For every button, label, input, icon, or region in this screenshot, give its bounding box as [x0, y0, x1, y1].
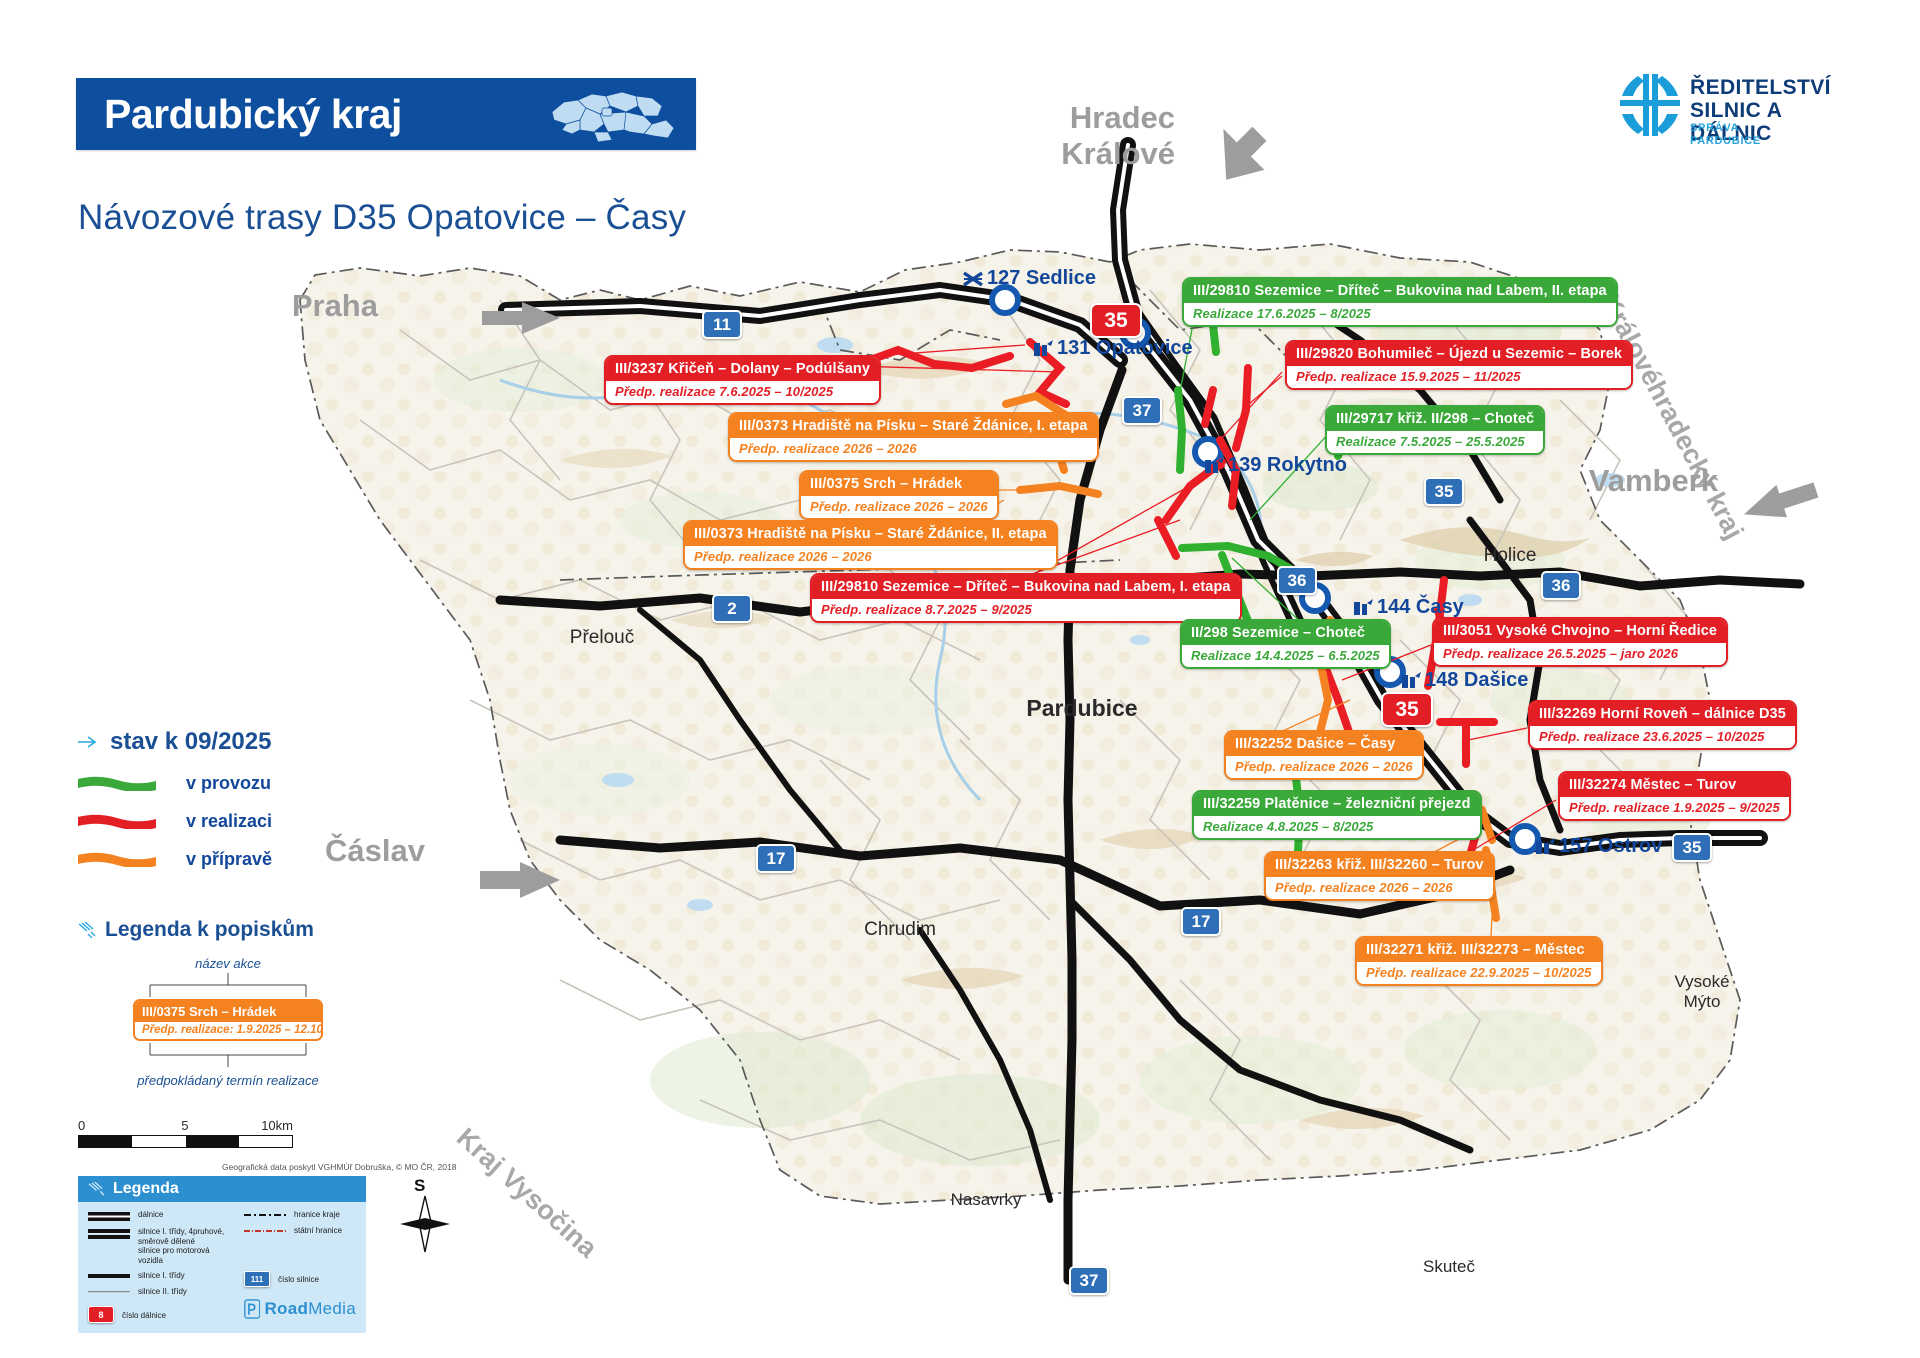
- legend-item-class2: silnice II. třídy: [88, 1287, 234, 1297]
- compass-north-label: S: [414, 1176, 425, 1196]
- callout-name: III/32274 Městec – Turov: [1560, 773, 1789, 797]
- callout-term: Předp. realizace 8.7.2025 – 9/2025: [812, 599, 1240, 621]
- callout-name: III/29820 Bohumileč – Újezd u Sezemic – …: [1287, 342, 1631, 366]
- city-label-holice: Holice: [1484, 545, 1537, 567]
- rsd-logo-sub: SPRÁVA PARDUBICE: [1690, 122, 1761, 148]
- status-legend: stav k 09/2025 v provozuv realizaciv pří…: [78, 728, 358, 870]
- city-label-pardubice: Pardubice: [1026, 695, 1137, 722]
- callout-term: Realizace 14.4.2025 – 6.5.2025: [1182, 645, 1389, 667]
- label-legend-bottom-note: předpokládaný termín realizace: [78, 1073, 378, 1088]
- motorway-shield-sample: 8: [88, 1306, 114, 1323]
- status-legend-title: stav k 09/2025: [110, 728, 271, 756]
- callout-srch-hradek[interactable]: III/0375 Srch – HrádekPředp. realizace 2…: [799, 470, 999, 520]
- legend-item-motorway: dálnice: [88, 1210, 234, 1221]
- legend-text-motorway: dálnice: [138, 1210, 163, 1220]
- label-legend-title: Legenda k popiskům: [105, 918, 314, 942]
- callout-sezemice-chotec[interactable]: II/298 Sezemice – ChotečRealizace 14.4.2…: [1180, 619, 1391, 669]
- dual-carriageway-symbol-icon: [88, 1227, 130, 1240]
- legend-marker-icon: [78, 922, 96, 938]
- page-title: Pardubický kraj: [104, 91, 402, 138]
- shield-37-north: 37: [1122, 396, 1162, 425]
- motorway-shield-value: 8: [98, 1310, 103, 1320]
- scale-bar: 0 5 10km: [78, 1118, 293, 1148]
- callout-hradiste-1[interactable]: III/0373 Hradiště na Písku – Staré Ždáni…: [728, 412, 1099, 462]
- scale-tick-5: 5: [181, 1118, 188, 1133]
- status-legend-row: v provozu: [78, 773, 358, 794]
- sample-name: III/0375 Srch – Hrádek: [135, 1001, 321, 1022]
- callout-name: III/0375 Srch – Hrádek: [801, 472, 997, 496]
- callout-sezemice-2[interactable]: III/29810 Sezemice – Dříteč – Bukovina n…: [1182, 277, 1618, 327]
- callout-name: III/32271 křiž. III/32273 – Městec: [1357, 938, 1601, 962]
- callout-chotec-29717[interactable]: III/29717 křiž. II/298 – ChotečRealizace…: [1325, 405, 1545, 455]
- exit-label-text: 157 Ostrov: [1559, 835, 1662, 858]
- callout-name: III/0373 Hradiště na Písku – Staré Ždáni…: [685, 522, 1056, 546]
- callout-hradiste-2[interactable]: III/0373 Hradiště na Písku – Staré Ždáni…: [683, 520, 1058, 570]
- callout-name: III/32263 křiž. III/32260 – Turov: [1266, 853, 1493, 877]
- callout-mestec-32271[interactable]: III/32271 křiž. III/32273 – MěstecPředp.…: [1355, 936, 1603, 986]
- callout-turov-32263[interactable]: III/32263 křiž. III/32260 – TurovPředp. …: [1264, 851, 1495, 901]
- map-legend-title: Legenda: [113, 1180, 179, 1198]
- status-legend-row: v realizaci: [78, 811, 358, 832]
- shield-17-east: 17: [1181, 907, 1221, 936]
- road-shield-sample: 111: [244, 1271, 270, 1287]
- callout-name: III/32252 Dašice – Časy: [1226, 732, 1422, 756]
- legend-text-motorway-number: číslo dálnice: [122, 1308, 166, 1321]
- roadmedia-name: RoadMedia: [264, 1299, 356, 1319]
- direction-label-vamberk: Vamberk: [1589, 463, 1718, 499]
- motorway-exit-icon: [1400, 672, 1422, 690]
- legend-item-class1: silnice I. třídy: [88, 1271, 234, 1281]
- label-legend: Legenda k popiskům název akce III/0375 S…: [78, 918, 378, 1088]
- status-legend-label: v přípravě: [186, 849, 272, 870]
- callout-name: III/29810 Sezemice – Dříteč – Bukovina n…: [1184, 279, 1616, 303]
- arrow-right-icon: [78, 734, 100, 750]
- map-legend-box: Legenda dálnice silnice I. třídy, 4pruho…: [78, 1176, 366, 1333]
- header-band: Pardubický kraj: [76, 78, 696, 150]
- page-subtitle: Návozové trasy D35 Opatovice – Časy: [78, 198, 686, 238]
- map-legend-right-col: hranice kraje státní hranice 111 číslo s…: [244, 1210, 356, 1323]
- rsd-line4: PARDUBICE: [1690, 135, 1761, 148]
- callout-name: III/3237 Křičeň – Dolany – Podúlšany: [606, 357, 879, 381]
- legend-item-motorway-shield: 8 číslo dálnice: [88, 1306, 234, 1323]
- callout-term: Předp. realizace 22.9.2025 – 10/2025: [1357, 962, 1601, 984]
- class1-road-symbol-icon: [88, 1271, 130, 1279]
- callout-name: II/298 Sezemice – Choteč: [1182, 621, 1389, 645]
- scale-tick-10: 10km: [261, 1118, 293, 1133]
- callout-name: III/29717 křiž. II/298 – Choteč: [1327, 407, 1543, 431]
- label-legend-top-note: název akce: [78, 956, 378, 971]
- status-legend-row: v přípravě: [78, 849, 358, 870]
- exit-label-text: 131 Opatovice: [1057, 337, 1193, 360]
- legend-item-dual-carriageway: silnice I. třídy, 4pruhové, směrově děle…: [88, 1227, 234, 1265]
- exit-127-sedlice: 127 Sedlice: [962, 267, 1096, 290]
- bracket-bottom-icon: [128, 1041, 328, 1067]
- callout-term: Předp. realizace 2026 – 2026: [730, 438, 1097, 460]
- rsd-line1: ŘEDITELSTVÍ: [1690, 76, 1868, 99]
- data-credit: Geografická data poskytl VGHMÚř Dobruška…: [222, 1162, 456, 1172]
- shield-11: 11: [702, 310, 742, 339]
- scale-bar-ticks: 0 5 10km: [78, 1118, 293, 1135]
- callout-term: Předp. realizace 23.6.2025 – 10/2025: [1530, 726, 1795, 748]
- city-label-skutec: Skuteč: [1423, 1257, 1475, 1277]
- sample-term: Předp. realizace: 1.9.2025 – 12.10.2025: [135, 1022, 321, 1039]
- city-label-prelouc: Přelouč: [570, 627, 634, 649]
- rsd-logo: ŘEDITELSTVÍ SILNIC A DÁLNIC SPRÁVA PARDU…: [1618, 72, 1868, 154]
- shield-2: 2: [712, 594, 752, 623]
- callout-term: Realizace 7.5.2025 – 25.5.2025: [1327, 431, 1543, 453]
- exit-label-text: 144 Časy: [1377, 596, 1464, 619]
- legend-text-dual-carriageway: silnice I. třídy, 4pruhové, směrově děle…: [138, 1227, 234, 1265]
- shield-35-casy: 35: [1381, 692, 1433, 727]
- legend-text-state-border: státní hranice: [294, 1226, 342, 1236]
- exit-label-text: 127 Sedlice: [987, 267, 1096, 290]
- legend-text-region-border: hranice kraje: [294, 1210, 340, 1220]
- label-legend-sample: III/0375 Srch – Hrádek Předp. realizace:…: [133, 999, 323, 1041]
- exit-157-ostrov: 157 Ostrov: [1534, 835, 1662, 858]
- scale-bar-segments: [78, 1135, 293, 1148]
- city-label-vysoke-myto: Vysoké Mýto: [1674, 972, 1729, 1012]
- legend-text-class1: silnice I. třídy: [138, 1271, 185, 1281]
- exit-139-rokytno: 139 Rokytno: [1203, 454, 1347, 477]
- shield-36-east: 36: [1541, 571, 1581, 600]
- callout-term: Předp. realizace 2026 – 2026: [1226, 756, 1422, 778]
- class2-road-symbol-icon: [88, 1287, 130, 1294]
- legend-text-road-number: číslo silnice: [278, 1273, 319, 1285]
- callout-term: Předp. realizace 15.9.2025 – 11/2025: [1287, 366, 1631, 388]
- status-legend-label: v realizaci: [186, 811, 272, 832]
- callout-term: Realizace 17.6.2025 – 8/2025: [1184, 303, 1616, 325]
- callout-name: III/29810 Sezemice – Dříteč – Bukovina n…: [812, 575, 1240, 599]
- motorway-exit-icon: [1203, 457, 1225, 475]
- railway-crossing-icon: [962, 270, 984, 288]
- callout-name: III/32259 Platěnice – železniční přejezd: [1194, 792, 1480, 816]
- callout-name: III/0373 Hradiště na Písku – Staré Ždáni…: [730, 414, 1097, 438]
- shield-35-east: 35: [1424, 477, 1464, 506]
- status-legend-label: v provozu: [186, 773, 271, 794]
- shield-35-ostrov: 35: [1672, 833, 1712, 862]
- roadmedia-icon: [244, 1297, 260, 1321]
- bracket-top-icon: [128, 973, 328, 999]
- callout-dasice-casy[interactable]: III/32252 Dašice – ČasyPředp. realizace …: [1224, 730, 1424, 780]
- callout-platenice[interactable]: III/32259 Platěnice – železniční přejezd…: [1192, 790, 1482, 840]
- exit-148-dasice: 148 Dašice: [1400, 669, 1528, 692]
- shield-35-top: 35: [1090, 303, 1142, 338]
- compass: S: [398, 1178, 452, 1256]
- roadmedia-name-bold: Road: [264, 1299, 308, 1318]
- czech-republic-regions-icon: [540, 86, 680, 144]
- state-border-symbol-icon: [244, 1226, 286, 1234]
- region-border-symbol-icon: [244, 1210, 286, 1218]
- callout-term: Předp. realizace 7.6.2025 – 10/2025: [606, 381, 879, 403]
- shield-17-west: 17: [756, 844, 796, 873]
- callout-mestec-turov[interactable]: III/32274 Městec – TurovPředp. realizace…: [1558, 771, 1791, 821]
- motorway-exit-icon: [1534, 838, 1556, 856]
- rsd-interchange-icon: [1618, 72, 1682, 138]
- status-swatch-icon: [78, 814, 156, 829]
- legend-item-state-border: státní hranice: [244, 1226, 356, 1236]
- direction-label-praha: Praha: [292, 288, 378, 324]
- callout-horni-roven[interactable]: III/32269 Horní Roveň – dálnice D35Předp…: [1528, 700, 1797, 750]
- map-legend-header: Legenda: [78, 1176, 366, 1202]
- city-label-nasavrky: Nasavrky: [951, 1190, 1022, 1210]
- callout-name: III/32269 Horní Roveň – dálnice D35: [1530, 702, 1795, 726]
- label-legend-header: Legenda k popiskům: [78, 918, 378, 942]
- status-swatch-icon: [78, 776, 156, 791]
- motorway-exit-icon: [1352, 599, 1374, 617]
- callout-term: Předp. realizace 2026 – 2026: [801, 496, 997, 518]
- rsd-line3: SPRÁVA: [1690, 122, 1761, 135]
- map-legend-left-col: dálnice silnice I. třídy, 4pruhové, směr…: [88, 1210, 234, 1323]
- motorway-exit-icon: [1032, 340, 1054, 358]
- status-swatch-icon: [78, 852, 156, 867]
- callout-bohumilec[interactable]: III/29820 Bohumileč – Újezd u Sezemic – …: [1285, 340, 1633, 390]
- callout-krisen[interactable]: III/3237 Křičeň – Dolany – PodúlšanyPřed…: [604, 355, 881, 405]
- exit-131-opatovice: 131 Opatovice: [1032, 337, 1193, 360]
- road-shield-value: 111: [251, 1275, 263, 1284]
- label-kralovehradecky-kraj: Královéhradecký kraj: [1595, 289, 1750, 544]
- shield-36-mid: 36: [1277, 566, 1317, 595]
- exit-label-text: 148 Dašice: [1425, 669, 1528, 692]
- callout-term: Předp. realizace 2026 – 2026: [1266, 877, 1493, 899]
- roadmedia-name-rest: Media: [308, 1299, 356, 1318]
- legend-text-class2: silnice II. třídy: [138, 1287, 187, 1297]
- label-kraj-vysocina: Kraj Vysočina: [451, 1122, 604, 1264]
- roadmedia-logo: RoadMedia: [244, 1297, 356, 1321]
- callout-vysoke-chvojno[interactable]: III/3051 Vysoké Chvojno – Horní ŘedicePř…: [1432, 617, 1728, 667]
- scale-tick-0: 0: [78, 1118, 85, 1133]
- callout-term: Předp. realizace 26.5.2025 – jaro 2026: [1434, 643, 1726, 665]
- city-label-chrudim: Chrudim: [864, 919, 936, 941]
- callout-name: III/3051 Vysoké Chvojno – Horní Ředice: [1434, 619, 1726, 643]
- status-legend-header: stav k 09/2025: [78, 728, 358, 756]
- north-arrow-icon: [398, 1194, 452, 1256]
- callout-term: Předp. realizace 2026 – 2026: [685, 546, 1056, 568]
- callout-term: Realizace 4.8.2025 – 8/2025: [1194, 816, 1480, 838]
- shield-37-south: 37: [1069, 1266, 1109, 1295]
- map-legend-body: dálnice silnice I. třídy, 4pruhové, směr…: [78, 1202, 366, 1333]
- direction-label-hradec-kralove: Hradec Králové: [1061, 100, 1175, 172]
- legend-item-region-border: hranice kraje: [244, 1210, 356, 1220]
- callout-term: Předp. realizace 1.9.2025 – 9/2025: [1560, 797, 1789, 819]
- exit-144-casy: 144 Časy: [1352, 596, 1464, 619]
- legend-marker-icon: [88, 1182, 105, 1197]
- callout-sezemice-1[interactable]: III/29810 Sezemice – Dříteč – Bukovina n…: [810, 573, 1242, 623]
- legend-item-road-shield: 111 číslo silnice: [244, 1271, 356, 1287]
- motorway-symbol-icon: [88, 1210, 130, 1221]
- exit-label-text: 139 Rokytno: [1228, 454, 1347, 477]
